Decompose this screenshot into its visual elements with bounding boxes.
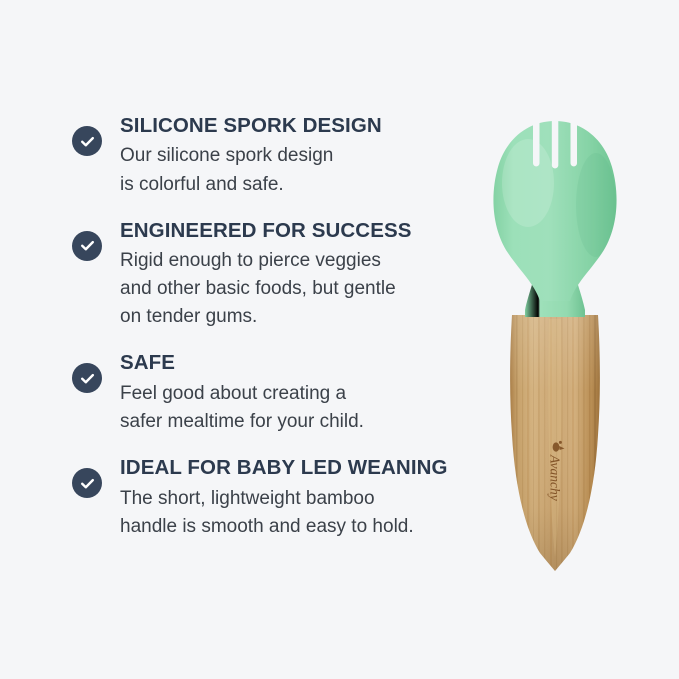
feature-title: ENGINEERED FOR SUCCESS — [120, 217, 472, 244]
feature-item-silicone-spork-design: SILICONE SPORK DESIGN Our silicone spork… — [72, 112, 472, 199]
check-circle-icon — [72, 468, 102, 498]
feature-description-line: safer mealtime for your child. — [120, 408, 472, 436]
feature-description-line: The short, lightweight bamboo — [120, 485, 472, 513]
feature-description-line: Feel good about creating a — [120, 380, 472, 408]
spork-head-silicone — [493, 113, 616, 301]
feature-description-line: handle is smooth and easy to hold. — [120, 513, 472, 541]
brand-name-text: Avanchy — [547, 454, 562, 501]
feature-description: The short, lightweight bamboo handle is … — [120, 485, 472, 541]
feature-description-line: and other basic foods, but gentle — [120, 275, 472, 303]
check-circle-icon — [72, 231, 102, 261]
feature-description-line: Our silicone spork design — [120, 142, 472, 170]
feature-item-ideal-for-baby-led-weaning: IDEAL FOR BABY LED WEANING The short, li… — [72, 454, 472, 541]
product-image-spork: Avanchy — [470, 105, 640, 585]
feature-description: Our silicone spork design is colorful an… — [120, 142, 472, 198]
feature-description-line: Rigid enough to pierce veggies — [120, 247, 472, 275]
feature-description-line: on tender gums. — [120, 303, 472, 331]
feature-item-engineered-for-success: ENGINEERED FOR SUCCESS Rigid enough to p… — [72, 217, 472, 332]
feature-description: Feel good about creating a safer mealtim… — [120, 380, 472, 436]
feature-item-safe: SAFE Feel good about creating a safer me… — [72, 349, 472, 436]
feature-title: IDEAL FOR BABY LED WEANING — [120, 454, 472, 481]
feature-description: Rigid enough to pierce veggies and other… — [120, 247, 472, 331]
feature-description-line: is colorful and safe. — [120, 171, 472, 199]
feature-list: SILICONE SPORK DESIGN Our silicone spork… — [72, 112, 472, 541]
product-infographic: SILICONE SPORK DESIGN Our silicone spork… — [0, 0, 679, 679]
check-circle-icon — [72, 363, 102, 393]
feature-title: SILICONE SPORK DESIGN — [120, 112, 472, 139]
check-circle-icon — [72, 126, 102, 156]
feature-title: SAFE — [120, 349, 472, 376]
